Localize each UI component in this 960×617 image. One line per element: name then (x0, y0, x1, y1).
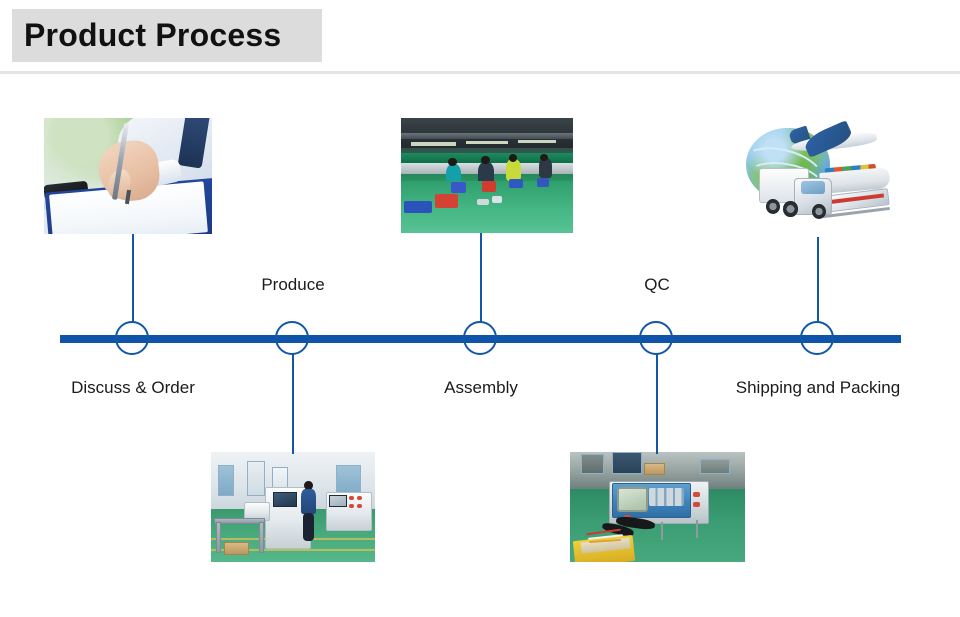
connector-line (292, 354, 294, 454)
page-header: Product Process (0, 0, 960, 72)
node-marker-circle[interactable] (115, 321, 149, 355)
title-banner: Product Process (12, 9, 322, 62)
assembly-line-photo (401, 118, 573, 233)
node-marker-circle[interactable] (639, 321, 673, 355)
connector-line (132, 234, 134, 322)
node-marker-circle[interactable] (800, 321, 834, 355)
node-marker-circle[interactable] (275, 321, 309, 355)
node-label-qc: QC (644, 275, 670, 295)
connector-line (480, 233, 482, 322)
production-workshop-photo (211, 452, 375, 562)
node-label-shipping-packing: Shipping and Packing (736, 378, 900, 398)
node-label-produce: Produce (261, 275, 324, 295)
contract-signing-photo (44, 118, 212, 234)
node-label-discuss-order: Discuss & Order (71, 378, 195, 398)
connector-line (656, 354, 658, 454)
process-timeline: Discuss & Order Produce Assembly QC Ship… (0, 72, 960, 617)
node-label-assembly: Assembly (444, 378, 518, 398)
connector-line (817, 237, 819, 322)
logistics-photo (740, 118, 900, 237)
page-title: Product Process (12, 17, 281, 54)
node-marker-circle[interactable] (463, 321, 497, 355)
qc-test-equipment-photo (570, 452, 745, 562)
